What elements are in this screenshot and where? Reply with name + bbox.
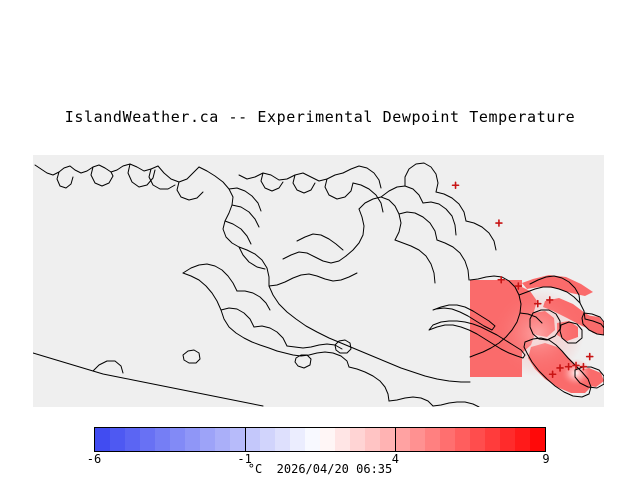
colorbar-segment bbox=[260, 428, 275, 451]
map-panel[interactable] bbox=[33, 155, 604, 407]
colorbar-gradient[interactable] bbox=[94, 427, 546, 452]
colorbar-segment bbox=[185, 428, 200, 451]
colorbar-segment bbox=[140, 428, 155, 451]
colorbar-caption: °C 2026/04/20 06:35 bbox=[0, 462, 640, 476]
colorbar-segment bbox=[155, 428, 170, 451]
colorbar-segment bbox=[515, 428, 530, 451]
colorbar-segment bbox=[425, 428, 440, 451]
colorbar-segment bbox=[530, 428, 545, 451]
colorbar-segment bbox=[350, 428, 365, 451]
colorbar-segment bbox=[410, 428, 425, 451]
colorbar-segment bbox=[125, 428, 140, 451]
colorbar-segment bbox=[305, 428, 320, 451]
colorbar-segment bbox=[95, 428, 110, 451]
colorbar-segment bbox=[365, 428, 380, 451]
colorbar-tick-divider bbox=[245, 427, 246, 452]
colorbar-segment bbox=[110, 428, 125, 451]
colorbar-segment bbox=[170, 428, 185, 451]
page-title: IslandWeather.ca -- Experimental Dewpoin… bbox=[0, 108, 640, 126]
colorbar-segment bbox=[380, 428, 395, 451]
data-field-layer bbox=[470, 275, 604, 393]
colorbar-segment bbox=[290, 428, 305, 451]
colorbar-segment bbox=[485, 428, 500, 451]
map-canvas[interactable] bbox=[33, 155, 604, 407]
colorbar-segment bbox=[230, 428, 245, 451]
colorbar-segment bbox=[440, 428, 455, 451]
colorbar-segment bbox=[455, 428, 470, 451]
colorbar[interactable] bbox=[94, 427, 546, 452]
colorbar-segment bbox=[470, 428, 485, 451]
colorbar-segment bbox=[275, 428, 290, 451]
colorbar-segment bbox=[335, 428, 350, 451]
colorbar-tick-divider bbox=[395, 427, 396, 452]
colorbar-segment bbox=[320, 428, 335, 451]
colorbar-segment bbox=[215, 428, 230, 451]
colorbar-segment bbox=[395, 428, 410, 451]
colorbar-segment bbox=[500, 428, 515, 451]
colorbar-segment bbox=[200, 428, 215, 451]
weather-map-page: IslandWeather.ca -- Experimental Dewpoin… bbox=[0, 0, 640, 480]
colorbar-segment bbox=[245, 428, 260, 451]
